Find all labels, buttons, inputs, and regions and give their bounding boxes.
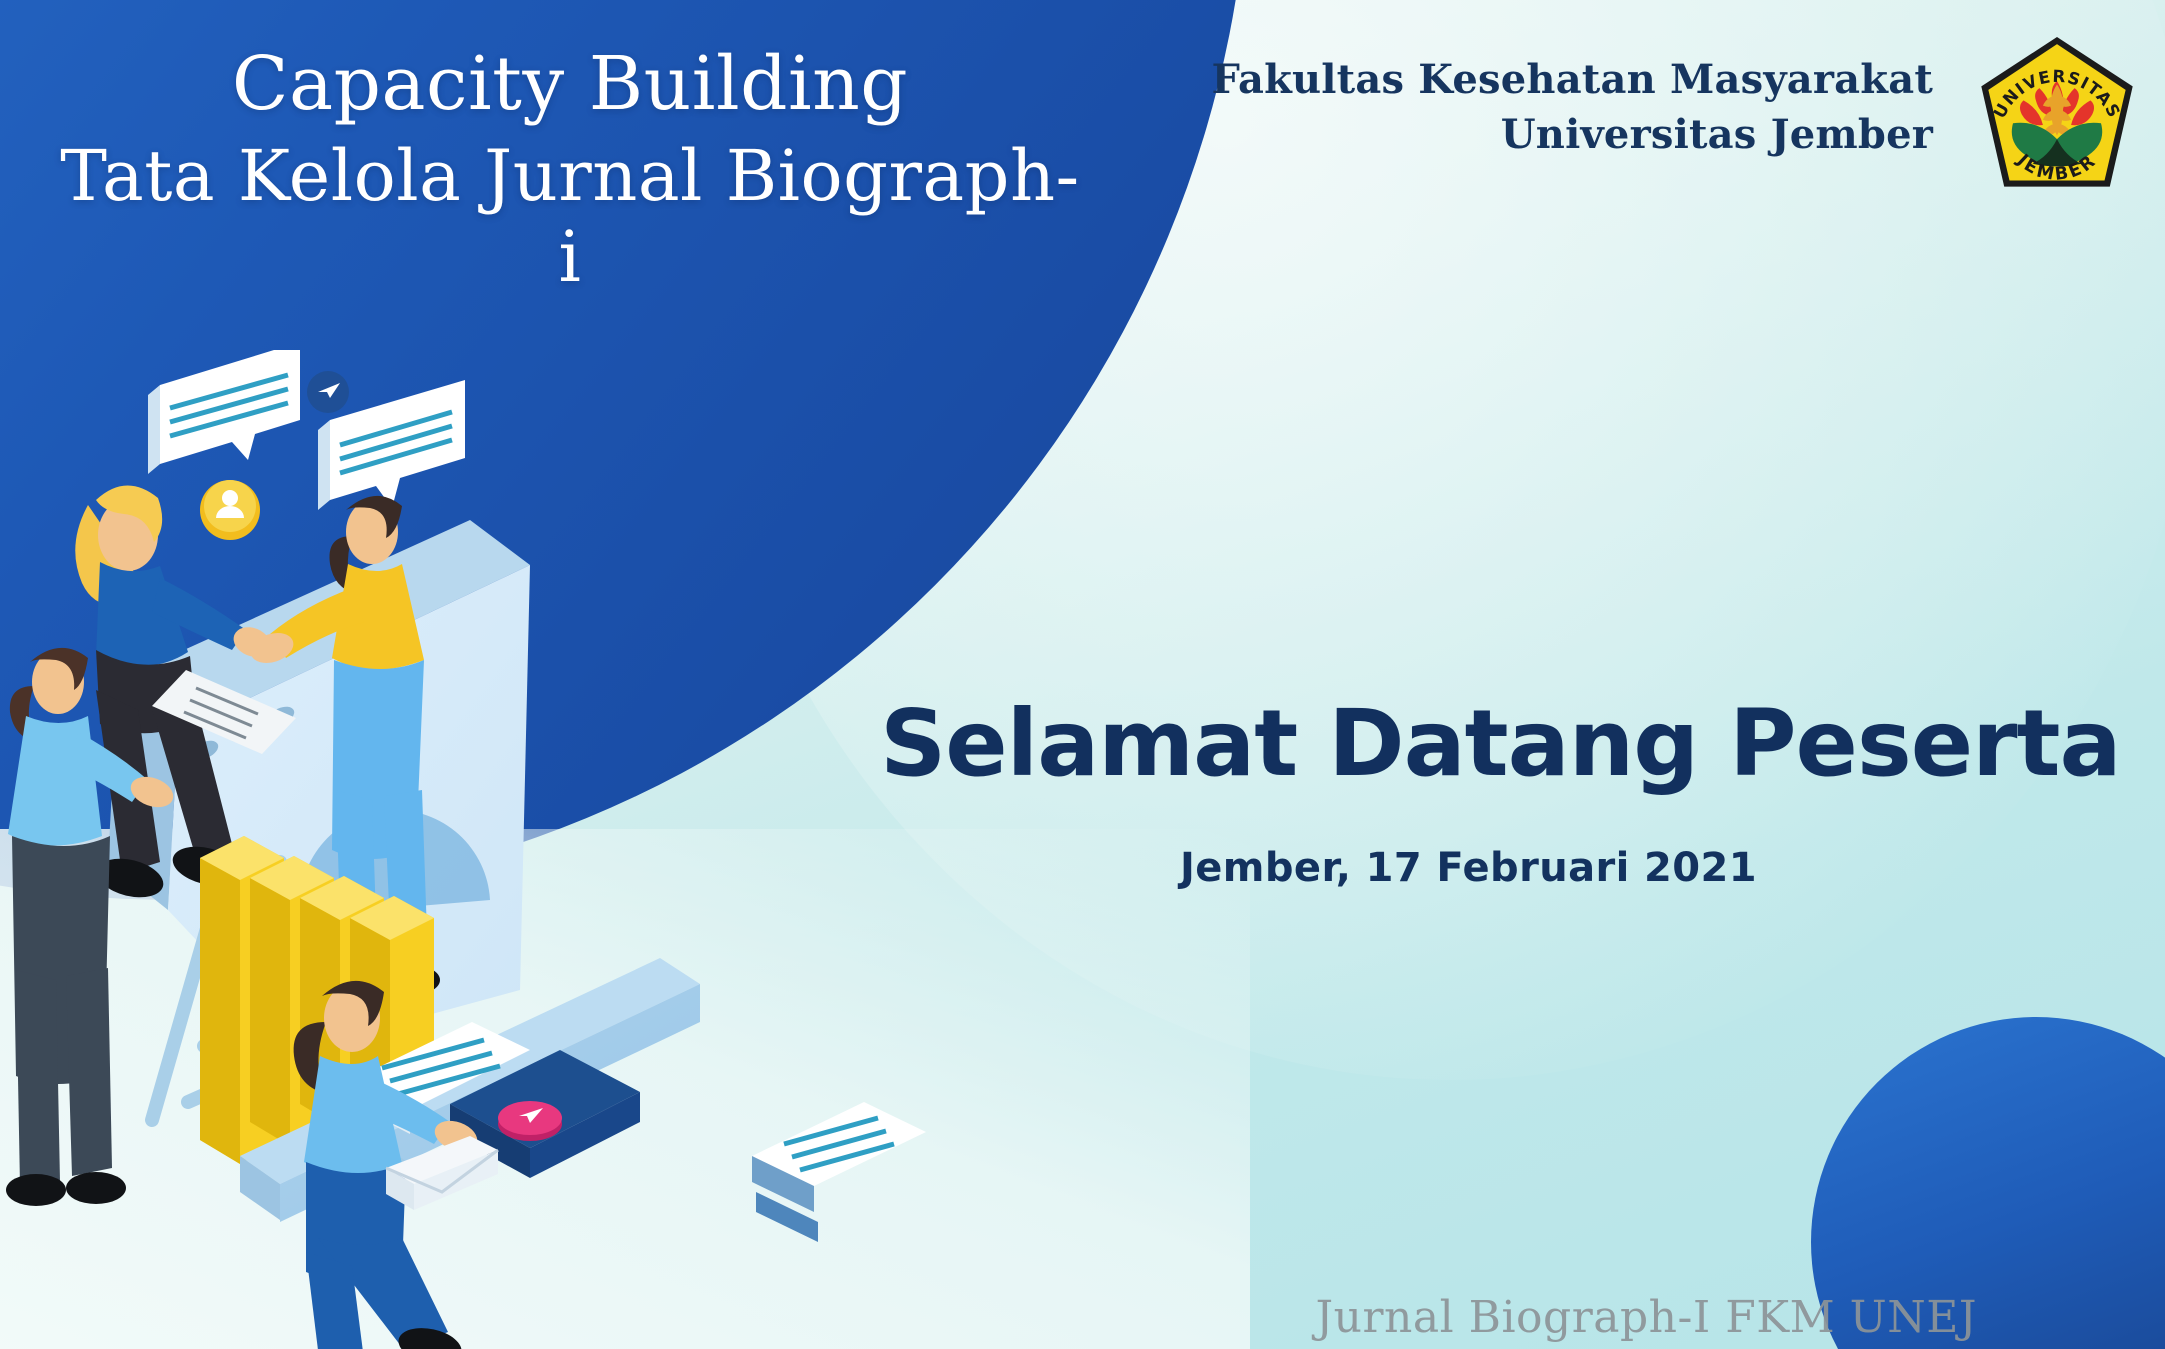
send-icon-badge: [307, 371, 349, 413]
event-date: Jember, 17 Februari 2021: [1180, 845, 2110, 891]
title-line-2: Tata Kelola Jurnal Biograph-i: [60, 136, 1080, 298]
faculty-line-2: Universitas Jember: [1212, 107, 1933, 162]
pink-send-button: [498, 1101, 562, 1141]
notification-coin: [200, 480, 260, 540]
isometric-teamwork-illustration: [0, 350, 1000, 1349]
faculty-heading: Fakultas Kesehatan Masyarakat Universita…: [1212, 52, 1933, 162]
universitas-jember-logo: UNIVERSITAS JEMBER: [1969, 30, 2145, 206]
slide-title: Capacity Building Tata Kelola Jurnal Bio…: [60, 42, 1080, 298]
title-line-1: Capacity Building: [60, 42, 1080, 128]
chat-bubble-large: [148, 350, 300, 474]
welcome-heading: Selamat Datang Peserta: [880, 690, 2110, 797]
faculty-line-1: Fakultas Kesehatan Masyarakat: [1212, 52, 1933, 107]
presentation-slide: Capacity Building Tata Kelola Jurnal Bio…: [0, 0, 2165, 1349]
footer-credit: Jurnal Biograph-I FKM UNEJ: [1316, 1292, 1977, 1343]
